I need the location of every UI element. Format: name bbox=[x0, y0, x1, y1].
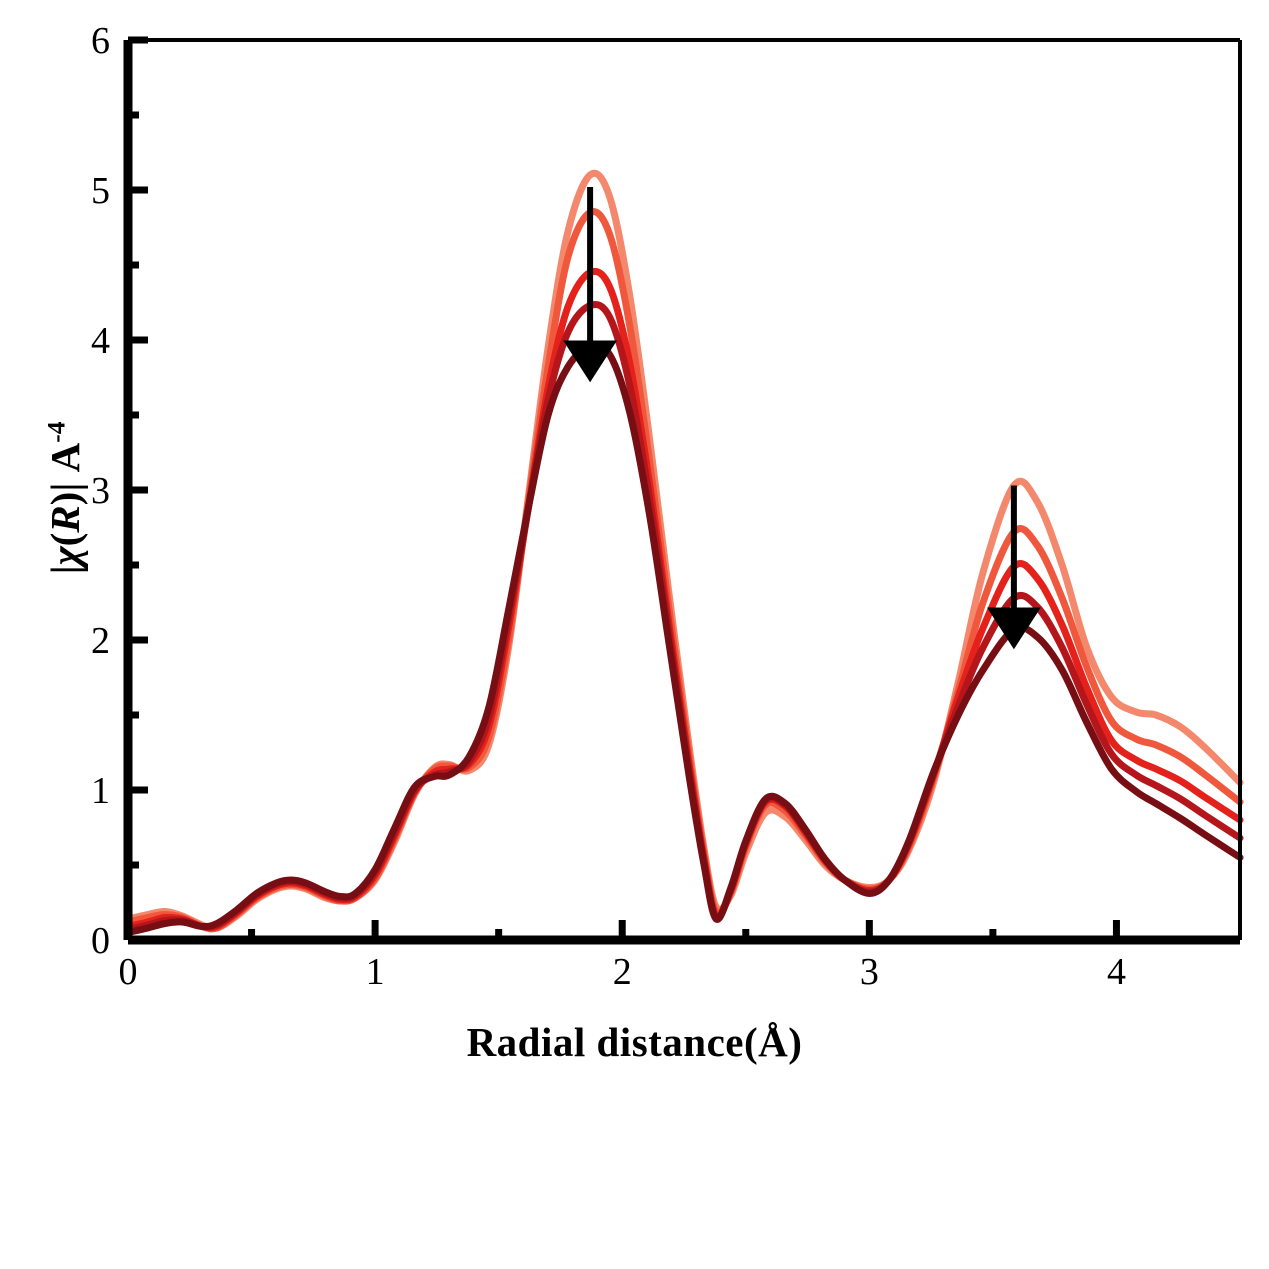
y-label-chi: χ bbox=[42, 546, 88, 565]
y-label-paren-open: ( bbox=[42, 533, 88, 547]
y-label-exponent: -4 bbox=[42, 422, 70, 443]
y-label-magnitude-bar-2: | bbox=[42, 483, 88, 492]
y-label-magnitude-bar: | bbox=[42, 565, 88, 574]
y-label-unit: A bbox=[42, 443, 88, 483]
x-axis-label: Radial distance(Å) bbox=[0, 1018, 1269, 1066]
figure-root: 01234 0123456 |χ(R)| A-4 Radial distance… bbox=[0, 0, 1269, 1093]
y-label-R: R bbox=[42, 505, 88, 532]
x-tick-label-4: 4 bbox=[1107, 951, 1126, 993]
y-label-paren-close: ) bbox=[42, 492, 88, 506]
y-axis-label-wrapper: |χ(R)| A-4 bbox=[0, 0, 1093, 1269]
y-axis-label: |χ(R)| A-4 bbox=[41, 238, 89, 758]
